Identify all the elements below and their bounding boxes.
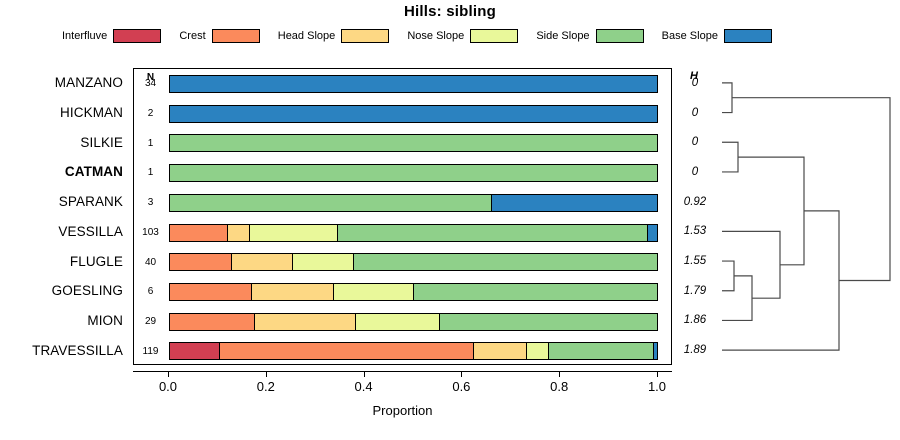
stacked-bar[interactable] (169, 283, 658, 301)
legend-swatch (470, 29, 518, 43)
legend-label: Interfluve (62, 30, 107, 42)
category-label-sparank: SPARANK (0, 187, 128, 217)
bar-segment-nose-slope[interactable] (249, 225, 336, 241)
bar-segment-nose-slope[interactable] (355, 314, 439, 330)
bar-segment-side-slope[interactable] (548, 343, 653, 359)
n-value: 29 (134, 307, 167, 337)
stacked-bar[interactable] (169, 253, 658, 271)
bar-segment-head-slope[interactable] (254, 314, 355, 330)
n-value: 103 (134, 218, 167, 248)
n-value: 34 (134, 69, 167, 99)
category-label-goesling: GOESLING (0, 276, 128, 306)
chart-legend: InterfluveCrestHead SlopeNose SlopeSide … (62, 27, 772, 45)
bar-segment-nose-slope[interactable] (526, 343, 548, 359)
bar-segment-crest[interactable] (170, 254, 231, 270)
bar-segment-side-slope[interactable] (439, 314, 657, 330)
stacked-bar[interactable] (169, 224, 658, 242)
x-axis-tick (461, 371, 462, 377)
legend-item-base-slope[interactable]: Base Slope (662, 29, 772, 43)
legend-label: Crest (179, 30, 205, 42)
x-axis-tick-label: 1.0 (637, 379, 677, 394)
legend-label: Nose Slope (407, 30, 464, 42)
bar-segment-crest[interactable] (219, 343, 473, 359)
x-axis-tick (657, 371, 658, 377)
x-axis-tick-label: 0.2 (246, 379, 286, 394)
legend-label: Head Slope (278, 30, 336, 42)
legend-swatch (212, 29, 260, 43)
legend-item-crest[interactable]: Crest (179, 29, 259, 43)
x-axis-line (133, 371, 672, 372)
bar-segment-crest[interactable] (170, 284, 251, 300)
x-axis-tick (364, 371, 365, 377)
dendrogram (700, 68, 898, 365)
legend-item-nose-slope[interactable]: Nose Slope (407, 29, 518, 43)
category-label-silkie: SILKIE (0, 127, 128, 157)
legend-item-head-slope[interactable]: Head Slope (278, 29, 390, 43)
stacked-bar[interactable] (169, 164, 658, 182)
bar-segment-crest[interactable] (170, 225, 227, 241)
n-value: 40 (134, 247, 167, 277)
category-label-mion: MION (0, 306, 128, 336)
chart-row: 1 (134, 128, 671, 158)
category-label-flugle: FLUGLE (0, 246, 128, 276)
chart-row: 103 (134, 218, 671, 248)
chart-title: Hills: sibling (0, 3, 900, 20)
n-value: 1 (134, 158, 167, 188)
bar-segment-base-slope[interactable] (491, 195, 657, 211)
bar-segment-side-slope[interactable] (170, 135, 657, 151)
stacked-bar[interactable] (169, 134, 658, 152)
category-label-hickman: HICKMAN (0, 98, 128, 128)
legend-swatch (596, 29, 644, 43)
bar-segment-base-slope[interactable] (170, 106, 657, 122)
bar-segment-head-slope[interactable] (227, 225, 249, 241)
stacked-bar[interactable] (169, 313, 658, 331)
bar-segment-nose-slope[interactable] (333, 284, 414, 300)
legend-item-side-slope[interactable]: Side Slope (536, 29, 643, 43)
stacked-bar[interactable] (169, 194, 658, 212)
chart-row: 40 (134, 247, 671, 277)
bar-segment-side-slope[interactable] (170, 165, 657, 181)
n-value: 2 (134, 99, 167, 129)
category-label-column: MANZANOHICKMANSILKIECATMANSPARANKVESSILL… (0, 68, 128, 365)
x-axis-tick (168, 371, 169, 377)
bar-segment-nose-slope[interactable] (292, 254, 353, 270)
legend-swatch (724, 29, 772, 43)
bar-segment-interfluve[interactable] (170, 343, 219, 359)
x-axis-tick-label: 0.8 (539, 379, 579, 394)
plot-area: N 34211310340629119 (133, 68, 672, 365)
legend-swatch (113, 29, 161, 43)
x-axis-tick-label: 0.6 (441, 379, 481, 394)
chart-row: 1 (134, 158, 671, 188)
bar-segment-side-slope[interactable] (170, 195, 491, 211)
chart-row: 119 (134, 336, 671, 366)
category-label-manzano: MANZANO (0, 68, 128, 98)
bar-segment-crest[interactable] (170, 314, 254, 330)
x-axis-label: Proportion (133, 403, 672, 418)
n-value: 119 (134, 336, 167, 366)
category-label-vessilla: VESSILLA (0, 217, 128, 247)
chart-row: 6 (134, 277, 671, 307)
chart-row: 34 (134, 69, 671, 99)
x-axis-tick-label: 0.0 (148, 379, 188, 394)
bar-segment-side-slope[interactable] (413, 284, 657, 300)
legend-swatch (341, 29, 389, 43)
n-value: 3 (134, 188, 167, 218)
bar-segment-head-slope[interactable] (231, 254, 292, 270)
bar-segment-head-slope[interactable] (473, 343, 526, 359)
legend-item-interfluve[interactable]: Interfluve (62, 29, 161, 43)
chart-row: 2 (134, 99, 671, 129)
stacked-bar[interactable] (169, 75, 658, 93)
legend-label: Base Slope (662, 30, 718, 42)
legend-label: Side Slope (536, 30, 589, 42)
x-axis-tick (559, 371, 560, 377)
x-axis-tick (266, 371, 267, 377)
stacked-bar[interactable] (169, 342, 658, 360)
chart-row: 29 (134, 307, 671, 337)
n-value: 6 (134, 277, 167, 307)
stacked-bar[interactable] (169, 105, 658, 123)
bar-segment-base-slope[interactable] (653, 343, 657, 359)
bar-segment-side-slope[interactable] (353, 254, 657, 270)
bar-segment-side-slope[interactable] (337, 225, 648, 241)
bar-segment-base-slope[interactable] (170, 76, 657, 92)
bar-segment-head-slope[interactable] (251, 284, 332, 300)
bar-segment-base-slope[interactable] (647, 225, 657, 241)
category-label-travessilla: TRAVESSILLA (0, 335, 128, 365)
chart-row: 3 (134, 188, 671, 218)
n-value: 1 (134, 128, 167, 158)
x-axis-tick-label: 0.4 (344, 379, 384, 394)
category-label-catman: CATMAN (0, 157, 128, 187)
